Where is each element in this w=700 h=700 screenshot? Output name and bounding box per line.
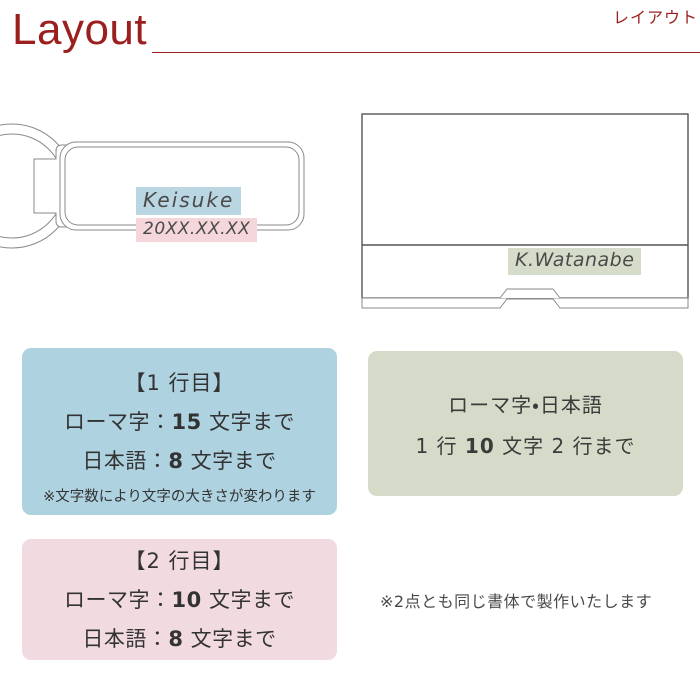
product-illustrations: Keisuke 20XX.XX.XX K.Watanabe bbox=[0, 96, 700, 326]
header-divider-rule bbox=[152, 52, 700, 53]
page-title: Layout bbox=[12, 6, 147, 54]
spec-line2-japanese-count: 8 bbox=[168, 627, 183, 651]
spec-box-card-case: ローマ字・日本語 1 行 10 文字 2 行まで bbox=[368, 351, 683, 496]
spec-line1-japanese-prefix: 日本語： bbox=[82, 449, 168, 473]
card-case-name-label: K.Watanabe bbox=[508, 248, 641, 275]
spec-line2-japanese: 日本語：8 文字まで bbox=[82, 623, 276, 653]
spec-line2-japanese-suffix: 文字まで bbox=[183, 627, 276, 651]
page-header: Layout レイアウト bbox=[0, 0, 700, 86]
spec-line1-note: ※文字数により文字の大きさが変わります bbox=[43, 485, 316, 506]
spec-line2-romaji-count: 10 bbox=[172, 588, 202, 612]
spec-line1-heading: 【1 行目】 bbox=[124, 367, 234, 397]
spec-card-line-b-suffix: 文字 2 行まで bbox=[495, 434, 636, 458]
spec-line2-romaji-prefix: ローマ字： bbox=[64, 588, 172, 612]
spec-line2-romaji-suffix: 文字まで bbox=[202, 588, 295, 612]
spec-line1-romaji-count: 15 bbox=[172, 410, 202, 434]
spec-line2-romaji: ローマ字：10 文字まで bbox=[64, 584, 295, 614]
spec-line1-romaji-prefix: ローマ字： bbox=[64, 410, 172, 434]
keychain-line2-label: 20XX.XX.XX bbox=[136, 218, 257, 242]
page-subtitle-japanese: レイアウト bbox=[613, 4, 698, 28]
product-line-art bbox=[0, 96, 700, 326]
spec-line1-romaji-suffix: 文字まで bbox=[202, 410, 295, 434]
spec-card-line-a: ローマ字・日本語 bbox=[448, 389, 603, 418]
spec-line1-romaji: ローマ字：15 文字まで bbox=[64, 406, 295, 436]
card-case-bottom-lip bbox=[362, 298, 688, 308]
spec-box-line1: 【1 行目】 ローマ字：15 文字まで 日本語：8 文字まで ※文字数により文字… bbox=[22, 348, 337, 515]
spec-card-line-b: 1 行 10 文字 2 行まで bbox=[415, 430, 635, 459]
footnote-same-typeface: ※2点とも同じ書体で製作いたします bbox=[380, 588, 652, 612]
spec-line2-heading: 【2 行目】 bbox=[124, 545, 234, 575]
spec-line2-japanese-prefix: 日本語： bbox=[82, 627, 168, 651]
spec-box-line2: 【2 行目】 ローマ字：10 文字まで 日本語：8 文字まで bbox=[22, 539, 337, 660]
spec-line1-japanese-count: 8 bbox=[168, 449, 183, 473]
spec-card-line-b-count: 10 bbox=[465, 434, 495, 458]
card-case-notch bbox=[500, 289, 560, 298]
spec-line1-japanese-suffix: 文字まで bbox=[183, 449, 276, 473]
spec-card-line-b-prefix: 1 行 bbox=[415, 434, 464, 458]
spec-line1-japanese: 日本語：8 文字まで bbox=[82, 445, 276, 475]
keychain-line1-label: Keisuke bbox=[136, 187, 241, 215]
